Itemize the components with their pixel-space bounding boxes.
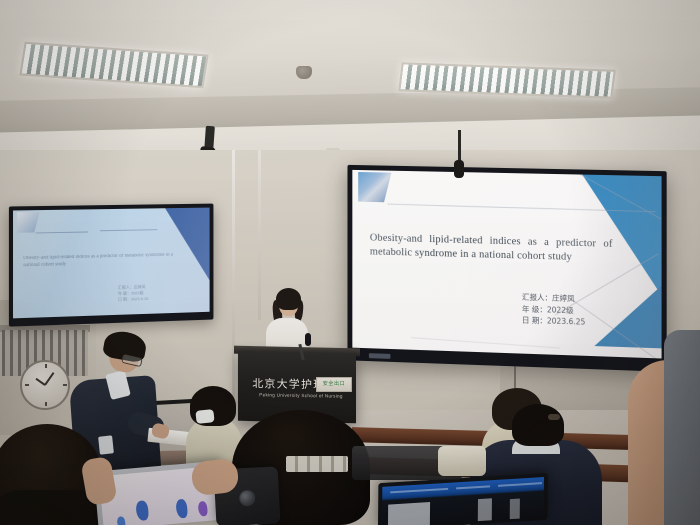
face-mask-icon (195, 409, 214, 424)
slide-hairline-d (411, 337, 560, 348)
laptop-screen[interactable] (382, 477, 544, 525)
wall-clock-icon (20, 360, 70, 410)
hair-clip-icon (548, 414, 560, 420)
standing-person-shirt (664, 330, 700, 525)
white-bag-on-desk (438, 446, 486, 476)
hanging-microphone-head (454, 160, 464, 178)
left-display-screen: Obesity-and lipid-related indices as a p… (13, 208, 210, 319)
main-display-screen: Obesity-and lipid-related indices as a p… (352, 170, 661, 359)
left-display: Obesity-and lipid-related indices as a p… (9, 204, 214, 327)
smoke-detector-icon (296, 66, 312, 79)
wall-seam-left (232, 150, 235, 400)
presentation-slide: Obesity-and lipid-related indices as a p… (352, 170, 661, 359)
clock-minute-hand (44, 372, 54, 385)
left-slide-accent-triangle (165, 208, 209, 282)
handheld-microphone-icon (305, 333, 311, 346)
display-brand-logo-icon (369, 353, 390, 359)
foreground-laptop[interactable] (378, 473, 548, 525)
slide-logo-icon (358, 172, 391, 202)
slide-meta-block: 汇报人：庄婷凤 年 级：2022级 日 期：2023.6.25 (522, 292, 643, 331)
slide-title: Obesity-and lipid-related indices as a p… (370, 232, 613, 266)
presenter-hair (276, 288, 301, 310)
student-navy-hair (512, 404, 564, 446)
small-paper-cups (286, 456, 348, 472)
phone-camera-lens-icon (239, 490, 256, 507)
left-slide-meta-line-3: 日 期：2023.6.25 (118, 295, 183, 303)
main-display: Obesity-and lipid-related indices as a p… (347, 165, 666, 372)
slide-accent-triangle-top (582, 175, 661, 296)
left-slide-logo-icon (17, 212, 39, 233)
left-slide-meta: 汇报人：庄婷凤 年 级：2022级 日 期：2023.6.25 (118, 283, 183, 303)
exit-sign: 安全出口 (316, 377, 352, 392)
slide-meta-date: 日 期：2023.6.25 (522, 315, 643, 330)
wall-seam-right (258, 150, 261, 320)
id-badge (98, 435, 114, 454)
hanging-microphone (458, 130, 461, 164)
left-slide-title: Obesity-and lipid-related indices as a p… (23, 252, 173, 270)
lecture-hall-photo: Obesity-and lipid-related indices as a p… (0, 0, 700, 525)
left-slide: Obesity-and lipid-related indices as a p… (13, 208, 210, 319)
ceiling-drop-cable (514, 366, 516, 390)
